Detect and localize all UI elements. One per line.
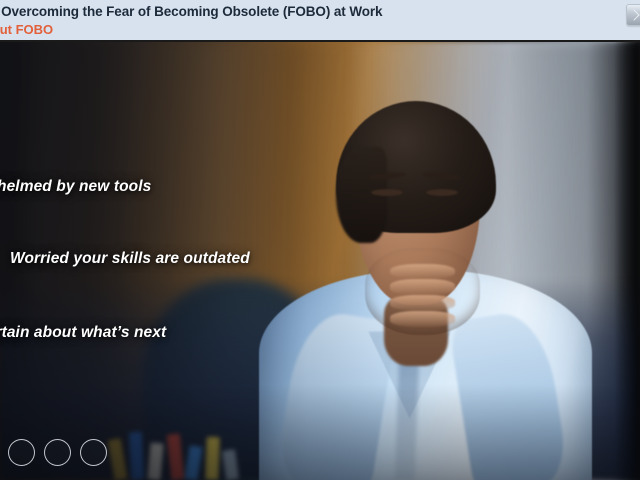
page-header: Briefs® Overcoming the Fear of Becoming … bbox=[0, 0, 640, 42]
header-text-block: Briefs® Overcoming the Fear of Becoming … bbox=[0, 3, 382, 38]
page-title: Briefs® Overcoming the Fear of Becoming … bbox=[0, 3, 382, 20]
collapse-control-icon[interactable] bbox=[626, 4, 640, 26]
caption-line-1: erwhelmed by new tools bbox=[0, 178, 151, 196]
caption-line-2: Worried your skills are outdated bbox=[10, 250, 250, 268]
slide-indicator-dot[interactable] bbox=[8, 439, 35, 466]
video-stage[interactable]: erwhelmed by new tools Worried your skil… bbox=[0, 42, 640, 480]
slide-indicator-dot[interactable] bbox=[44, 439, 71, 466]
slide-indicators[interactable] bbox=[8, 439, 107, 466]
slide-indicator-dot[interactable] bbox=[80, 439, 107, 466]
page-subtitle-link[interactable]: Do About FOBO bbox=[0, 22, 382, 38]
caption-group: erwhelmed by new tools Worried your skil… bbox=[0, 42, 640, 480]
page-title-rest: Overcoming the Fear of Becoming Obsolete… bbox=[0, 4, 382, 19]
caption-line-3: certain about what’s next bbox=[0, 324, 166, 342]
